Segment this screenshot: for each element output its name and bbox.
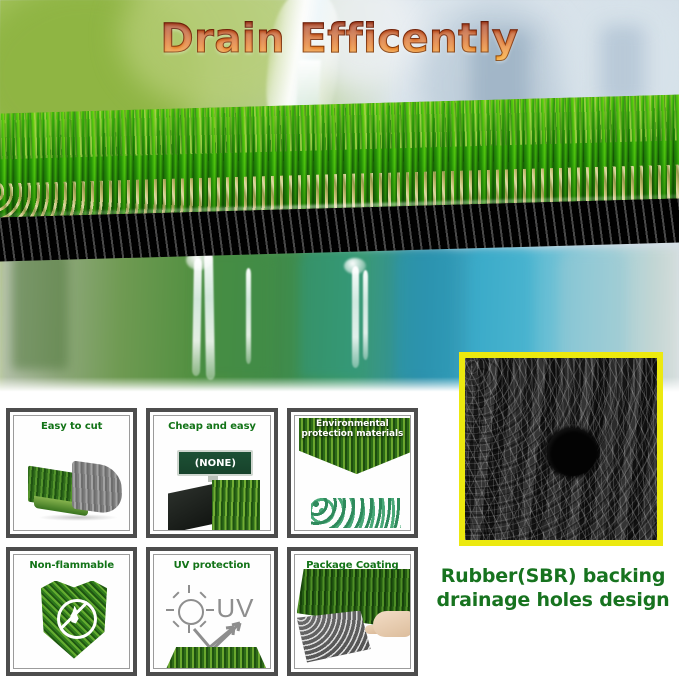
green-resin-pellets xyxy=(311,498,401,528)
rubber-backing-photo-panel xyxy=(459,352,663,546)
hand-icon xyxy=(373,611,411,637)
plaque-sign: (NONE) xyxy=(177,450,253,476)
package-coating-illustration xyxy=(295,555,410,669)
plaque-and-sample-illustration: (NONE) xyxy=(154,416,269,530)
page-title: Drain Efficently xyxy=(0,16,679,62)
feature-card-environmental-protection-materials[interactable]: Environmental protection materials xyxy=(287,408,418,538)
background-object-blur xyxy=(396,250,454,380)
prohibition-circle-icon xyxy=(57,599,97,639)
feature-card-package-coating[interactable]: Package Coating xyxy=(287,547,418,677)
draining-water-stream xyxy=(352,266,359,368)
hero-photo: Drain Efficently xyxy=(0,0,679,393)
feature-card-uv-protection[interactable]: UV UV protection xyxy=(146,547,277,677)
card-inner-frame: Package Coating xyxy=(294,554,411,670)
right-panel-caption: Rubber(SBR) backing drainage holes desig… xyxy=(432,564,674,613)
feature-card-label: Package Coating xyxy=(295,560,410,571)
draining-water-stream xyxy=(363,270,368,360)
drop-shadow xyxy=(38,514,118,521)
plaque-text: (NONE) xyxy=(195,458,236,469)
draining-water-stream xyxy=(246,268,251,364)
turf-cross-section xyxy=(0,94,679,262)
card-inner-frame: Environmental protection materials xyxy=(294,415,411,531)
rolled-turf-illustration xyxy=(14,416,129,530)
turf-grass-sample xyxy=(212,480,260,530)
turf-slab xyxy=(166,647,266,669)
card-inner-frame: Non-flammable xyxy=(13,554,130,670)
turf-gray-backing-roll xyxy=(72,460,122,515)
feature-card-non-flammable[interactable]: Non-flammable xyxy=(6,547,137,677)
feature-grid: Easy to cut (NONE) Cheap and easy xyxy=(6,408,418,676)
feature-card-label: Easy to cut xyxy=(14,421,129,432)
water-droplet xyxy=(344,258,366,274)
uv-label: UV xyxy=(216,593,254,624)
caption-line-1: Rubber(SBR) backing xyxy=(432,564,674,588)
card-inner-frame: Easy to cut xyxy=(13,415,130,531)
card-inner-frame: (NONE) Cheap and easy xyxy=(153,415,270,531)
card-inner-frame: UV UV protection xyxy=(153,554,270,670)
uv-protection-illustration: UV xyxy=(154,555,269,669)
feature-card-label: UV protection xyxy=(154,560,269,571)
drainage-hole xyxy=(547,428,597,476)
product-feature-image: Drain Efficently Easy to cut xyxy=(0,0,679,679)
caption-line-2: drainage holes design xyxy=(432,588,674,612)
feature-card-easy-to-cut[interactable]: Easy to cut xyxy=(6,408,137,538)
non-flammable-illustration xyxy=(14,555,129,669)
feature-card-label: Cheap and easy xyxy=(154,421,269,432)
feature-card-label: Environmental protection materials xyxy=(295,419,410,439)
turf-backing-underside xyxy=(297,611,371,663)
feature-card-cheap-and-easy[interactable]: (NONE) Cheap and easy xyxy=(146,408,277,538)
background-object-blur xyxy=(12,250,68,370)
feature-card-label: Non-flammable xyxy=(14,560,129,571)
